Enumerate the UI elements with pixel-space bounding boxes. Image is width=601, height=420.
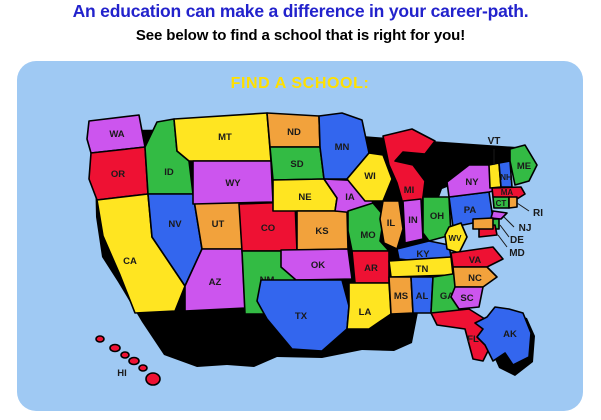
- state-label-MN: MN: [335, 142, 350, 153]
- page-subheadline: See below to find a school that is right…: [0, 27, 601, 44]
- state-RI[interactable]: [509, 197, 517, 208]
- state-AR[interactable]: AR: [352, 251, 389, 283]
- state-WY[interactable]: WY: [193, 161, 273, 204]
- state-AK[interactable]: AK: [475, 307, 535, 376]
- state-label-HI: HI: [117, 368, 127, 379]
- callout-RI: RI: [517, 203, 543, 219]
- state-label-AR: AR: [364, 263, 378, 274]
- us-map[interactable]: WA OR CA ID NV UT: [17, 61, 583, 411]
- state-SD[interactable]: SD: [270, 147, 324, 180]
- state-label-IA: IA: [345, 192, 355, 203]
- state-MD-pan[interactable]: [473, 218, 493, 229]
- state-label-AZ: AZ: [209, 277, 222, 288]
- state-label-NY: NY: [465, 177, 479, 188]
- state-label-MT: MT: [218, 132, 232, 143]
- state-IL[interactable]: IL: [380, 201, 403, 249]
- state-TN[interactable]: TN: [389, 257, 453, 277]
- state-OK[interactable]: OK: [281, 249, 352, 280]
- state-HI[interactable]: HI: [96, 336, 160, 385]
- state-label-ID: ID: [164, 167, 174, 178]
- state-label-OH: OH: [430, 211, 444, 222]
- state-label-CO: CO: [261, 223, 275, 234]
- state-label-TX: TX: [295, 311, 308, 322]
- state-label-AK: AK: [503, 329, 517, 340]
- find-a-school-panel: FIND A SCHOOL: WA OR CA ID: [17, 61, 583, 411]
- state-label-NE: NE: [298, 192, 311, 203]
- state-label-NV: NV: [168, 219, 182, 230]
- state-IN[interactable]: IN: [403, 199, 423, 243]
- state-label-WV: WV: [449, 234, 463, 243]
- state-OR[interactable]: OR: [89, 147, 148, 200]
- state-ND[interactable]: ND: [267, 113, 320, 147]
- state-label-DE: DE: [510, 235, 524, 246]
- state-label-OK: OK: [311, 260, 325, 271]
- state-label-LA: LA: [359, 307, 372, 318]
- state-label-IN: IN: [408, 215, 418, 226]
- state-label-SD: SD: [290, 159, 303, 170]
- state-label-IL: IL: [387, 218, 396, 229]
- state-label-RI: RI: [533, 208, 543, 219]
- state-label-NC: NC: [468, 273, 482, 284]
- state-NC[interactable]: NC: [453, 267, 497, 287]
- state-label-MI: MI: [404, 185, 415, 196]
- state-label-MS: MS: [394, 291, 408, 302]
- state-WV[interactable]: WV: [445, 223, 467, 253]
- callout-NJ: NJ: [504, 217, 531, 234]
- state-label-MO: MO: [360, 230, 375, 241]
- state-label-CT: CT: [496, 199, 507, 208]
- state-label-ND: ND: [287, 127, 301, 138]
- page-headline: An education can make a difference in yo…: [0, 1, 601, 22]
- state-KS[interactable]: KS: [297, 211, 348, 250]
- state-MT[interactable]: MT: [174, 113, 271, 161]
- state-label-UT: UT: [212, 219, 225, 230]
- state-MS[interactable]: MS: [389, 277, 413, 314]
- state-label-ME: ME: [517, 161, 531, 172]
- state-label-VT: VT: [488, 136, 501, 147]
- state-label-PA: PA: [464, 205, 477, 216]
- state-label-MA: MA: [501, 188, 514, 197]
- state-label-NH: NH: [500, 173, 512, 182]
- state-label-OR: OR: [111, 169, 125, 180]
- state-label-CA: CA: [123, 256, 137, 267]
- state-label-SC: SC: [460, 293, 473, 304]
- state-label-WA: WA: [109, 129, 124, 140]
- state-label-VA: VA: [469, 255, 482, 266]
- state-label-WY: WY: [225, 178, 241, 189]
- page-root: An education can make a difference in yo…: [0, 0, 601, 420]
- state-label-MD: MD: [509, 248, 525, 259]
- state-AL[interactable]: AL: [411, 277, 433, 313]
- state-label-NJ: NJ: [519, 223, 532, 234]
- state-ME[interactable]: ME: [510, 145, 537, 185]
- state-label-TN: TN: [416, 264, 429, 275]
- state-label-AL: AL: [416, 291, 429, 302]
- state-CT[interactable]: CT: [493, 197, 509, 208]
- state-label-WI: WI: [364, 171, 376, 182]
- state-label-KS: KS: [315, 226, 328, 237]
